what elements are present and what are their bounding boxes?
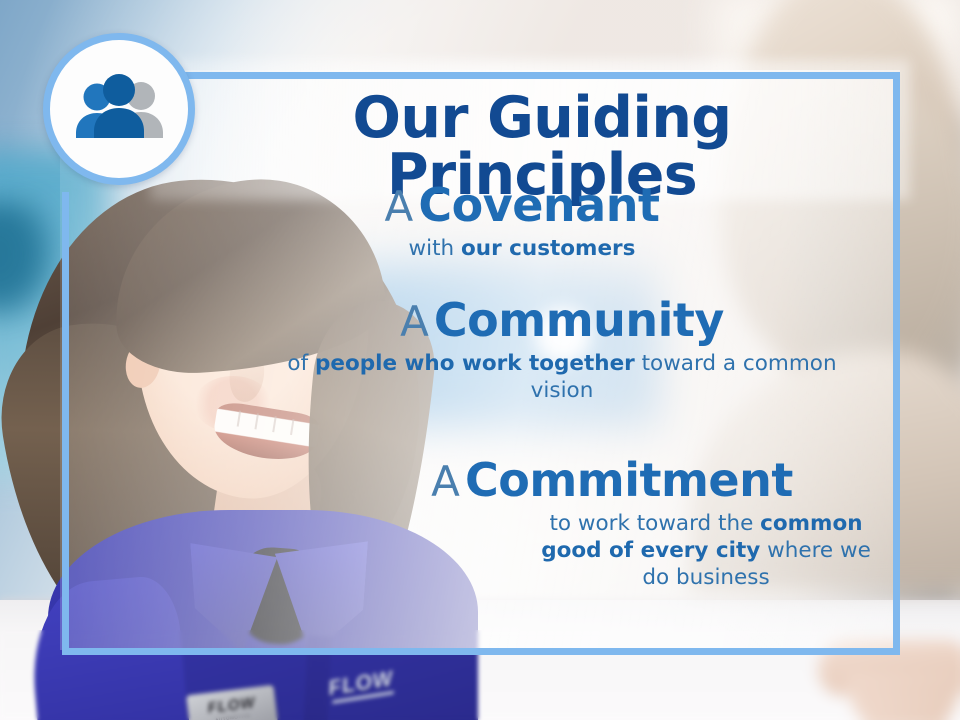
principle-keyword: Community — [434, 293, 724, 347]
principle-subtitle: with our customers — [262, 235, 782, 262]
content-area: Our Guiding Principles A Covenant with o… — [62, 72, 900, 655]
principle-subtitle: of people who work together toward a com… — [282, 350, 842, 405]
guiding-principles-graphic: FLOW AUTOMOTIVE FLOW — [0, 0, 960, 720]
principle-community: A Community of people who work together … — [282, 297, 842, 404]
principle-keyword: Commitment — [465, 453, 793, 507]
principle-subtitle: to work toward the common good of every … — [526, 510, 886, 592]
principle-article: A — [385, 182, 414, 231]
principle-article: A — [431, 457, 460, 506]
principle-covenant: A Covenant with our customers — [262, 182, 782, 262]
principle-heading: A Covenant — [262, 182, 782, 230]
principle-article: A — [400, 297, 429, 346]
principle-keyword: Covenant — [418, 178, 659, 232]
principle-commitment: A Commitment to work toward the common g… — [332, 457, 892, 592]
principle-heading: A Commitment — [332, 457, 892, 505]
principle-heading: A Community — [282, 297, 842, 345]
